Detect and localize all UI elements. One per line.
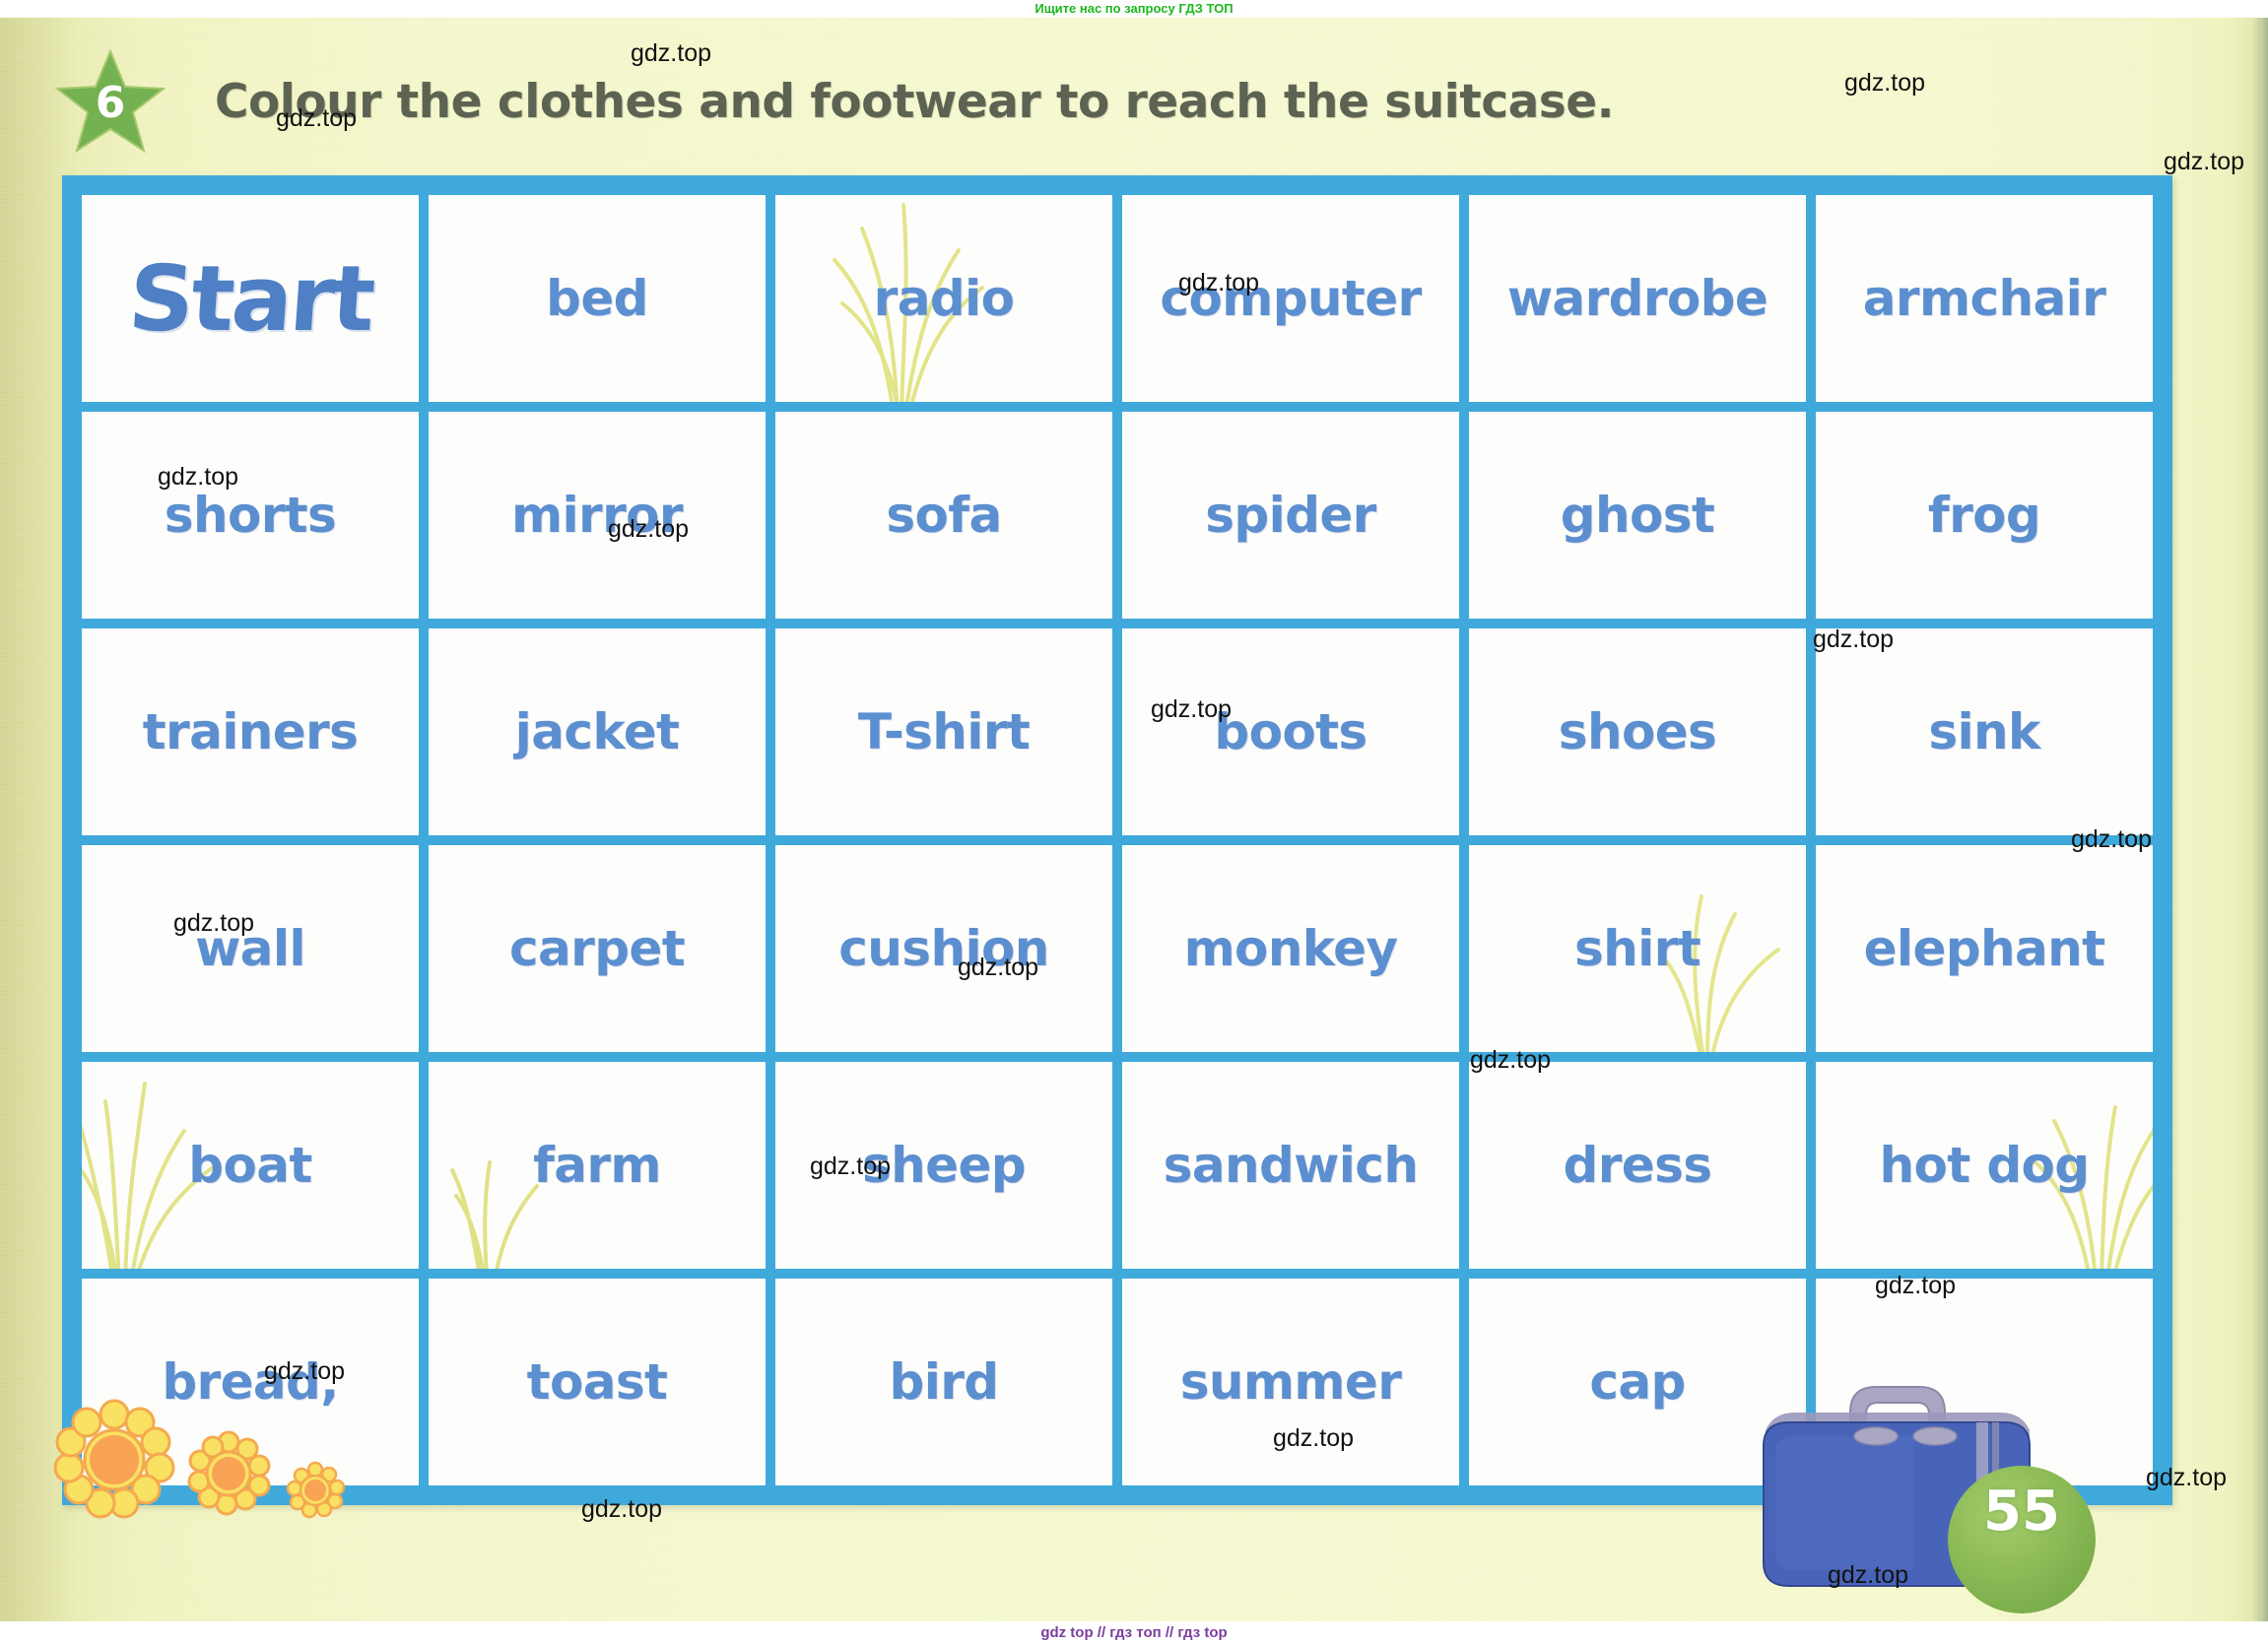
board-cell-elephant[interactable]: elephant <box>1816 845 2153 1052</box>
board-cell-label: carpet <box>509 920 685 977</box>
board-cell-bird[interactable]: bird <box>775 1279 1112 1485</box>
board-cell-label: trainers <box>143 703 359 760</box>
board-cell-hotdog[interactable]: hot dog <box>1816 1062 2153 1269</box>
exercise-number-label: 6 <box>55 47 166 158</box>
board-cell-label: Start <box>125 246 375 352</box>
board-cell-label: T-shirt <box>858 703 1030 760</box>
board-game-frame: Start bed <box>62 175 2172 1505</box>
board-cell-monkey[interactable]: monkey <box>1122 845 1459 1052</box>
board-cell-summer[interactable]: summer <box>1122 1279 1459 1485</box>
board-cell-label: armchair <box>1863 270 2105 327</box>
bottom-ad-footer: gdz top // гдз топ // гдз top <box>0 1621 2268 1645</box>
page-number-label: 55 <box>1948 1466 2096 1613</box>
watermark-text: gdz.top <box>1273 1424 1354 1453</box>
board-cell-carpet[interactable]: carpet <box>429 845 766 1052</box>
top-ad-banner-text: Ищите нас по запросу ГДЗ ТОП <box>1034 0 1233 18</box>
board-cell-sink[interactable]: sink <box>1816 628 2153 835</box>
board-cell-jacket[interactable]: jacket <box>429 628 766 835</box>
board-cell-label: shorts <box>165 487 336 544</box>
watermark-text: gdz.top <box>158 463 238 492</box>
watermark-text: gdz.top <box>2164 148 2244 176</box>
board-cell-label: elephant <box>1864 920 2105 977</box>
board-cell-toast[interactable]: toast <box>429 1279 766 1485</box>
watermark-text: gdz.top <box>276 104 357 133</box>
board-cell-label: frog <box>1928 487 2040 544</box>
watermark-text: gdz.top <box>1470 1046 1551 1075</box>
board-cell-mirror[interactable]: mirror <box>429 412 766 619</box>
board-cell-label: boots <box>1214 703 1367 760</box>
board-cell-label: bed <box>546 270 648 327</box>
watermark-text: gdz.top <box>608 515 689 544</box>
board-cell-cap[interactable]: cap <box>1469 1279 1806 1485</box>
board-cell-tshirt[interactable]: T-shirt <box>775 628 1112 835</box>
board-cell-label: wardrobe <box>1507 270 1768 327</box>
board-cell-label: jacket <box>515 703 680 760</box>
board-cell-label: cap <box>1589 1353 1685 1411</box>
watermark-text: gdz.top <box>1875 1272 1956 1300</box>
watermark-text: gdz.top <box>2071 825 2152 854</box>
board-cell-label: shirt <box>1574 920 1701 977</box>
board-cell-radio[interactable]: radio <box>775 195 1112 402</box>
board-cell-shirt[interactable]: shirt <box>1469 845 1806 1052</box>
board-cell-label: dress <box>1564 1137 1712 1194</box>
watermark-text: gdz.top <box>1151 695 1232 724</box>
workbook-page: 6 Colour the clothes and footwear to rea… <box>0 18 2268 1621</box>
board-cell-label: sofa <box>886 487 1001 544</box>
exercise-number-star: 6 <box>55 47 166 158</box>
board-cell-label: ghost <box>1561 487 1714 544</box>
board-cell-label: boat <box>188 1137 311 1194</box>
board-grid: Start bed <box>82 195 2153 1485</box>
board-cell-label: spider <box>1205 487 1375 544</box>
board-cell-label: summer <box>1180 1353 1402 1411</box>
watermark-text: gdz.top <box>264 1357 345 1386</box>
board-cell-label: sandwich <box>1164 1137 1419 1194</box>
watermark-text: gdz.top <box>2146 1464 2227 1492</box>
page-number-badge: 55 <box>1948 1466 2096 1613</box>
page-right-edge-shadow <box>2252 18 2268 1621</box>
bottom-ad-footer-text: gdz top // гдз топ // гдз top <box>1040 1621 1227 1645</box>
watermark-text: gdz.top <box>1813 625 1894 654</box>
board-cell-boots[interactable]: boots <box>1122 628 1459 835</box>
board-cell-shoes[interactable]: shoes <box>1469 628 1806 835</box>
board-cell-wall[interactable]: wall <box>82 845 419 1052</box>
board-cell-frog[interactable]: frog <box>1816 412 2153 619</box>
board-cell-armchair[interactable]: armchair <box>1816 195 2153 402</box>
watermark-text: gdz.top <box>1844 69 1925 98</box>
watermark-text: gdz.top <box>173 909 254 938</box>
watermark-text: gdz.top <box>631 39 711 68</box>
board-cell-label: sink <box>1928 703 2039 760</box>
board-cell-sandwich[interactable]: sandwich <box>1122 1062 1459 1269</box>
board-cell-cushion[interactable]: cushion <box>775 845 1112 1052</box>
board-cell-farm[interactable]: farm <box>429 1062 766 1269</box>
board-cell-start[interactable]: Start <box>82 195 419 402</box>
board-cell-bed[interactable]: bed <box>429 195 766 402</box>
board-cell-bread[interactable]: bread, <box>82 1279 419 1485</box>
board-cell-boat[interactable]: boat <box>82 1062 419 1269</box>
board-cell-spider[interactable]: spider <box>1122 412 1459 619</box>
board-cell-finish-suitcase[interactable] <box>1816 1279 2153 1485</box>
board-cell-trainers[interactable]: trainers <box>82 628 419 835</box>
exercise-title: Colour the clothes and footwear to reach… <box>215 75 1614 129</box>
board-cell-label: hot dog <box>1880 1137 2090 1194</box>
board-cell-label: bird <box>890 1353 999 1411</box>
board-cell-computer[interactable]: computer <box>1122 195 1459 402</box>
board-cell-label: farm <box>533 1137 661 1194</box>
top-ad-banner: Ищите нас по запросу ГДЗ ТОП <box>0 0 2268 18</box>
board-cell-label: monkey <box>1184 920 1398 977</box>
board-cell-dress[interactable]: dress <box>1469 1062 1806 1269</box>
watermark-text: gdz.top <box>1178 269 1259 297</box>
board-cell-label: radio <box>874 270 1015 327</box>
watermark-text: gdz.top <box>581 1495 662 1524</box>
board-cell-shorts[interactable]: shorts <box>82 412 419 619</box>
board-cell-label: shoes <box>1559 703 1716 760</box>
watermark-text: gdz.top <box>810 1152 891 1181</box>
watermark-text: gdz.top <box>958 954 1038 982</box>
board-cell-ghost[interactable]: ghost <box>1469 412 1806 619</box>
board-cell-label: toast <box>527 1353 668 1411</box>
board-cell-wardrobe[interactable]: wardrobe <box>1469 195 1806 402</box>
watermark-text: gdz.top <box>1828 1561 1908 1590</box>
board-cell-sofa[interactable]: sofa <box>775 412 1112 619</box>
